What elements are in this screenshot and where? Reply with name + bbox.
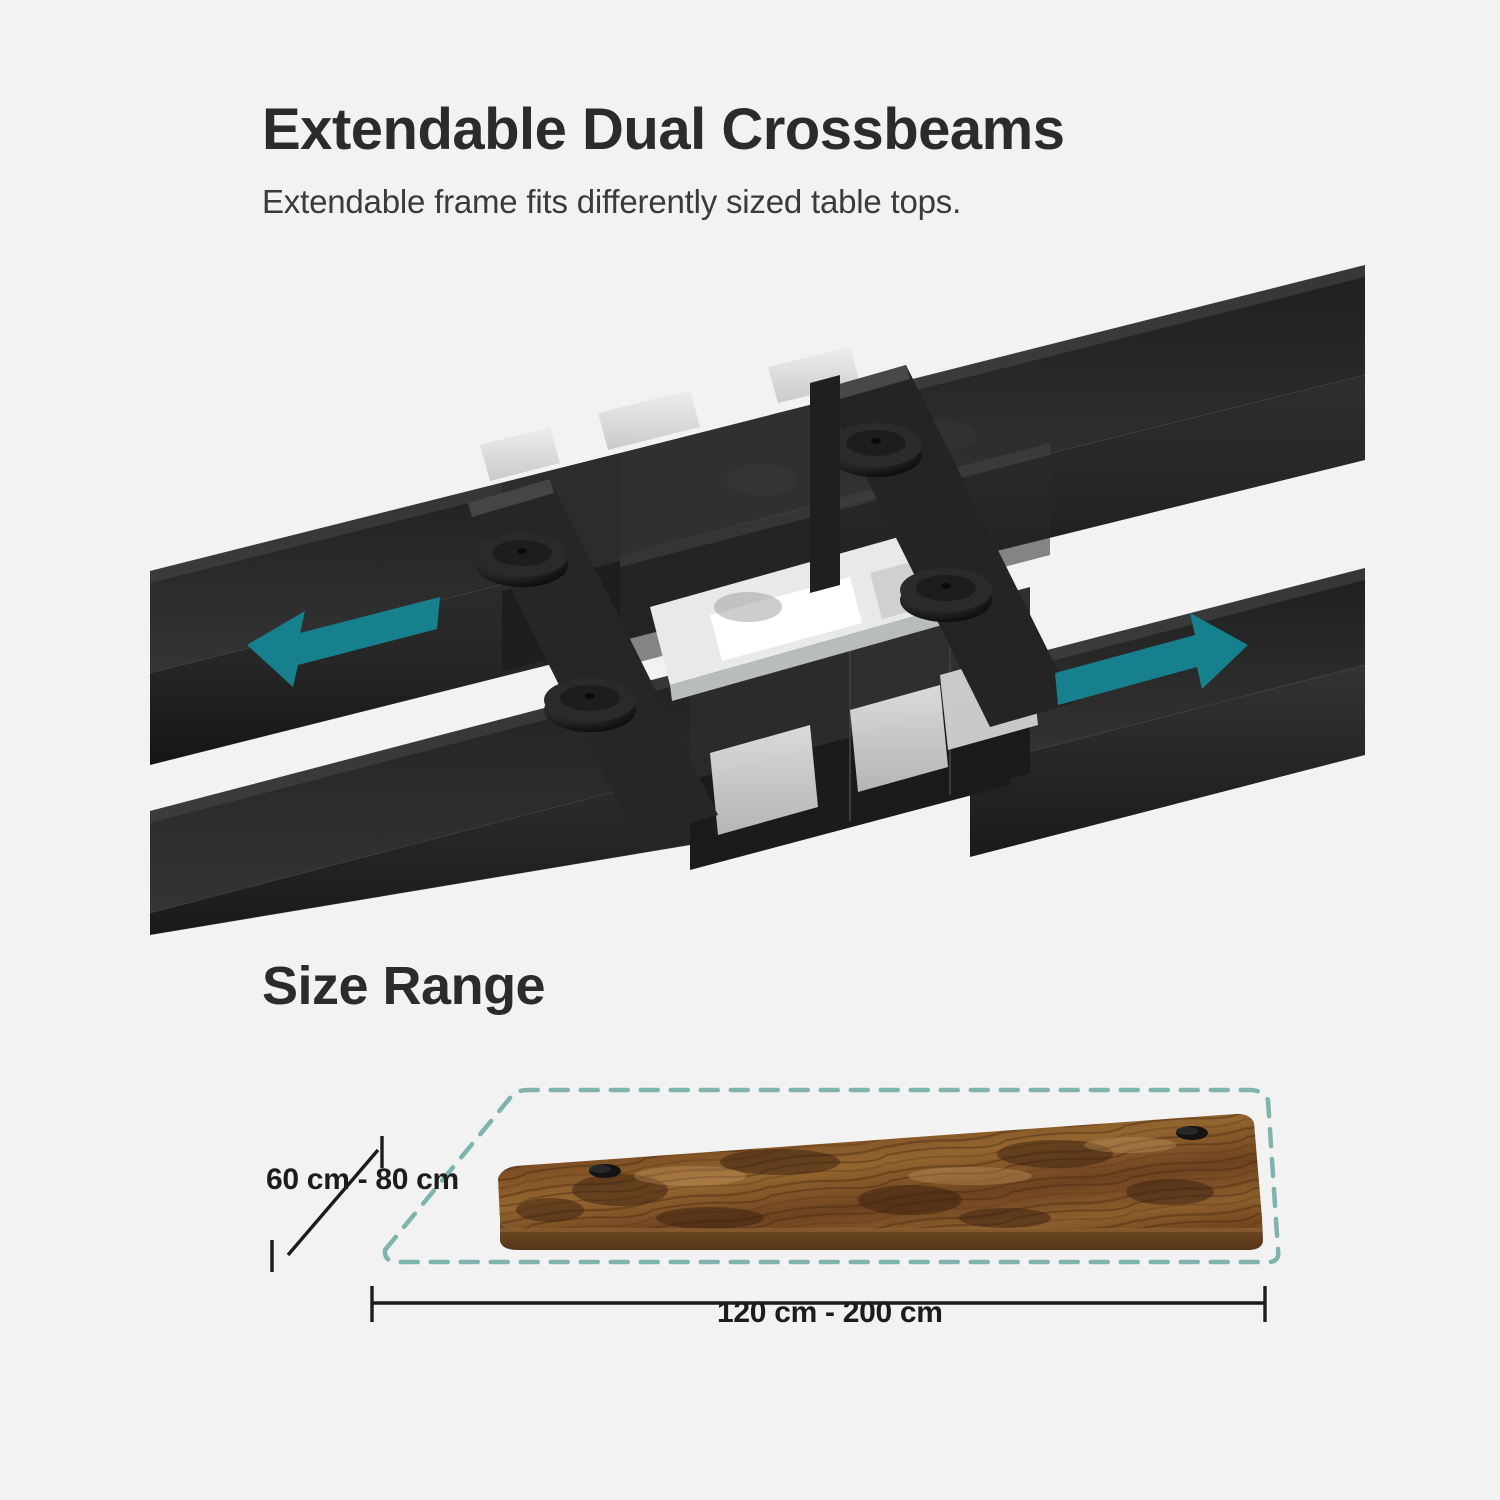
page-title: Extendable Dual Crossbeams <box>262 100 1362 161</box>
section-title-size-range: Size Range <box>262 955 545 1017</box>
header: Extendable Dual Crossbeams Extendable fr… <box>262 100 1362 221</box>
bolt-washer <box>900 568 992 622</box>
depth-dimension-label: 60 cm - 80 cm <box>266 1163 459 1197</box>
width-dimension-label: 120 cm - 200 cm <box>717 1296 943 1330</box>
grommet-hole <box>1176 1127 1198 1135</box>
bolt-washer <box>476 533 568 587</box>
crossbeam-product-photo <box>150 255 1365 935</box>
grommet-hole <box>589 1165 611 1173</box>
page-subtitle: Extendable frame fits differently sized … <box>262 183 1362 221</box>
bolt-washer <box>830 423 922 477</box>
size-range-diagram <box>150 1050 1410 1410</box>
bolt-washer <box>544 678 636 732</box>
